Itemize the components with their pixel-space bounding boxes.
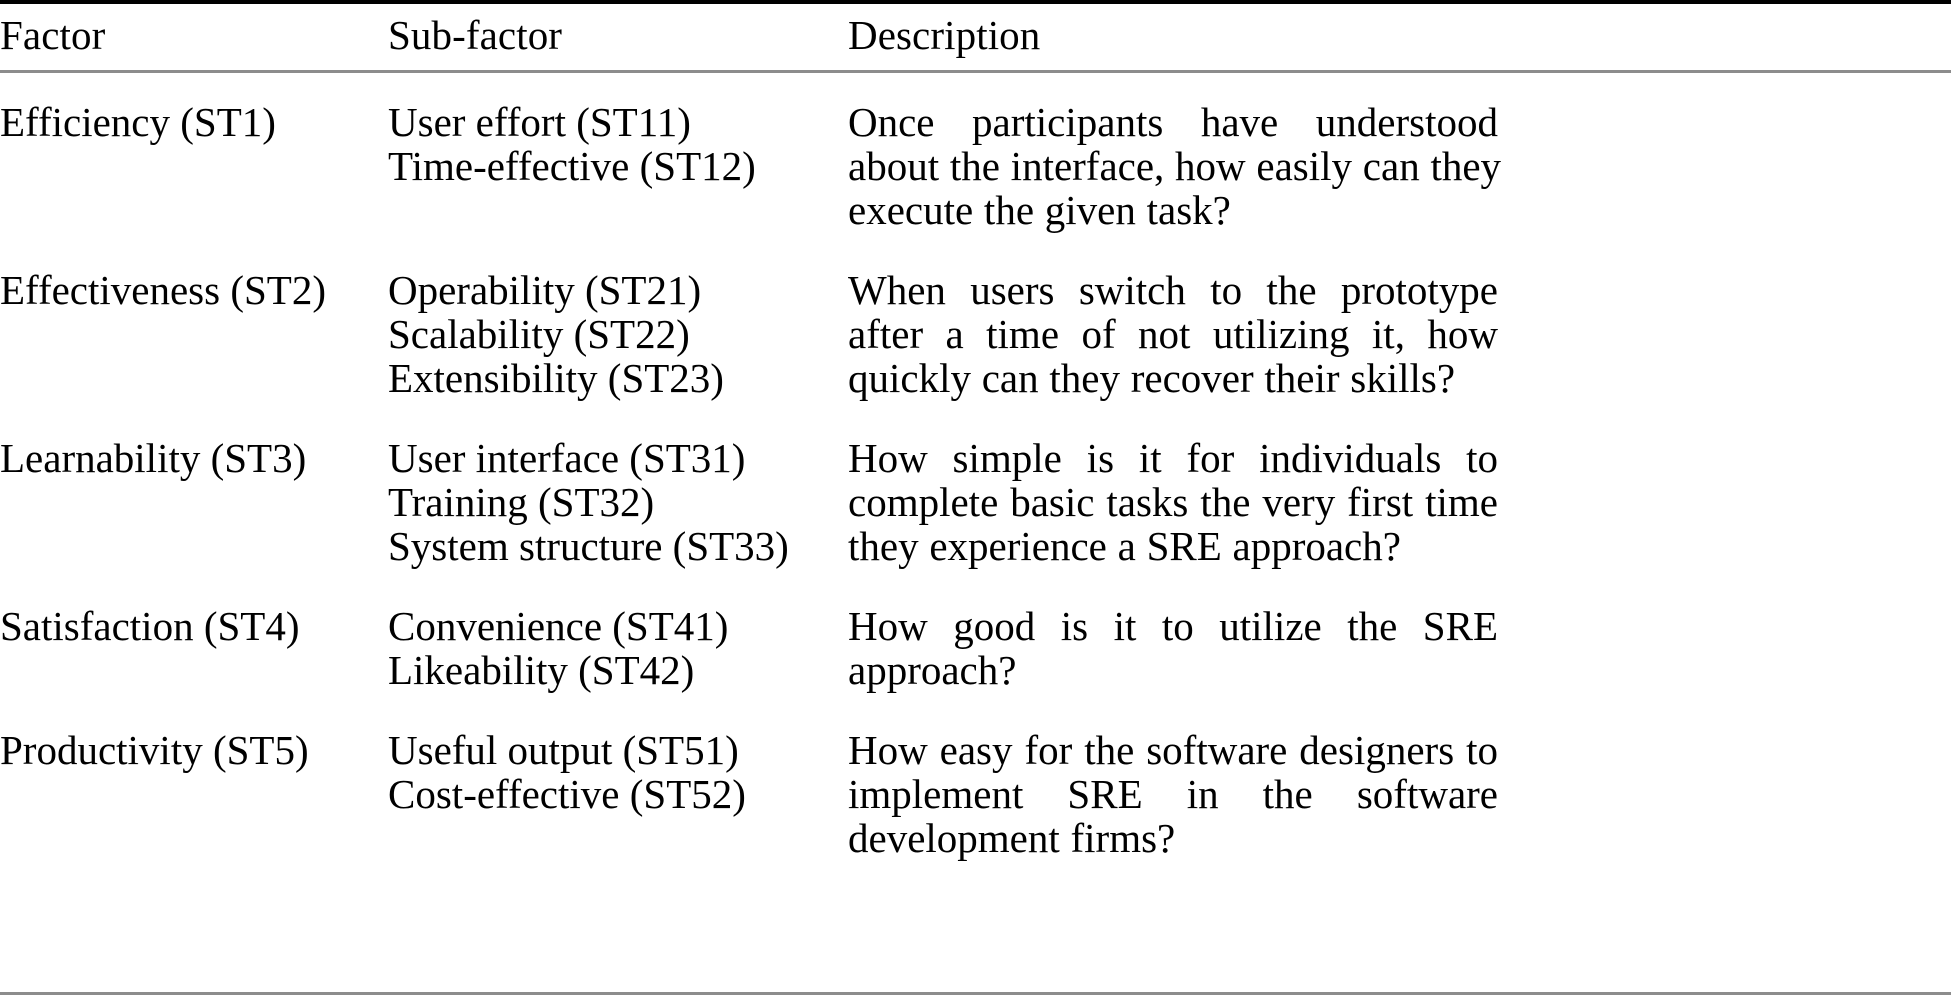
factor-cell: Productivity (ST5) — [0, 728, 388, 772]
sub-factor-item: Training (ST32) — [388, 480, 848, 524]
sub-factor-item: Likeability (ST42) — [388, 648, 848, 692]
sub-factor-list: User effort (ST11) Time-effective (ST12) — [388, 100, 848, 188]
factor-label: Productivity (ST5) — [0, 728, 388, 772]
description-line: Once participants have understood — [848, 100, 1498, 144]
factor-label: Efficiency (ST1) — [0, 100, 388, 144]
table-row: Efficiency (ST1) User effort (ST11) Time… — [0, 84, 1951, 252]
sub-factor-item: Time-effective (ST12) — [388, 144, 848, 188]
description-line: How good is it to utilize the SRE — [848, 604, 1498, 648]
sub-factor-item: Convenience (ST41) — [388, 604, 848, 648]
table-grid: Factor Sub-factor Description Efficiency… — [0, 0, 1951, 880]
description-line: they experience a SRE approach? — [848, 524, 1498, 568]
factor-cell: Effectiveness (ST2) — [0, 268, 388, 312]
description-line: approach? — [848, 648, 1498, 692]
sub-factor-item: User effort (ST11) — [388, 100, 848, 144]
sub-factor-cell: Convenience (ST41) Likeability (ST42) — [388, 604, 848, 692]
description-line: development firms? — [848, 816, 1498, 860]
sub-factor-item: System structure (ST33) — [388, 524, 848, 568]
description-cell: How good is it to utilize the SRE approa… — [848, 604, 1498, 692]
description-line: How easy for the software designers to — [848, 728, 1498, 772]
factor-subfactor-description-table: Factor Sub-factor Description Efficiency… — [0, 0, 1951, 1000]
table-row: Effectiveness (ST2) Operability (ST21) S… — [0, 252, 1951, 420]
description-line: after a time of not utilizing it, how — [848, 312, 1498, 356]
factor-cell: Satisfaction (ST4) — [0, 604, 388, 648]
description-line: execute the given task? — [848, 188, 1498, 232]
sub-factor-item: User interface (ST31) — [388, 436, 848, 480]
sub-factor-item: Useful output (ST51) — [388, 728, 848, 772]
description-line: implement SRE in the software — [848, 772, 1498, 816]
table-row: Productivity (ST5) Useful output (ST51) … — [0, 712, 1951, 880]
description-line: How simple is it for individuals to — [848, 436, 1498, 480]
sub-factor-item: Extensibility (ST23) — [388, 356, 848, 400]
sub-factor-cell: Useful output (ST51) Cost-effective (ST5… — [388, 728, 848, 816]
sub-factor-list: Convenience (ST41) Likeability (ST42) — [388, 604, 848, 692]
sub-factor-cell: Operability (ST21) Scalability (ST22) Ex… — [388, 268, 848, 400]
factor-cell: Efficiency (ST1) — [0, 100, 388, 144]
description-cell: When users switch to the prototype after… — [848, 268, 1498, 400]
sub-factor-item: Operability (ST21) — [388, 268, 848, 312]
sub-factor-cell: User interface (ST31) Training (ST32) Sy… — [388, 436, 848, 568]
description-line: quickly can they recover their skills? — [848, 356, 1498, 400]
sub-factor-list: Useful output (ST51) Cost-effective (ST5… — [388, 728, 848, 816]
column-header-sub-factor: Sub-factor — [388, 0, 848, 70]
sub-factor-cell: User effort (ST11) Time-effective (ST12) — [388, 100, 848, 188]
factor-label: Learnability (ST3) — [0, 436, 388, 480]
table-body: Efficiency (ST1) User effort (ST11) Time… — [0, 70, 1951, 880]
description-line: about the interface, how easily can they — [848, 144, 1498, 188]
factor-label: Satisfaction (ST4) — [0, 604, 388, 648]
table-bottom-rule — [0, 992, 1951, 995]
column-header-description: Description — [848, 0, 1498, 70]
sub-factor-item: Cost-effective (ST52) — [388, 772, 848, 816]
sub-factor-list: User interface (ST31) Training (ST32) Sy… — [388, 436, 848, 568]
description-cell: Once participants have understood about … — [848, 100, 1498, 232]
description-cell: How easy for the software designers to i… — [848, 728, 1498, 860]
table-row: Learnability (ST3) User interface (ST31)… — [0, 420, 1951, 588]
sub-factor-list: Operability (ST21) Scalability (ST22) Ex… — [388, 268, 848, 400]
column-header-factor: Factor — [0, 0, 388, 70]
table-row: Satisfaction (ST4) Convenience (ST41) Li… — [0, 588, 1951, 712]
description-cell: How simple is it for individuals to comp… — [848, 436, 1498, 568]
description-line: When users switch to the prototype — [848, 268, 1498, 312]
sub-factor-item: Scalability (ST22) — [388, 312, 848, 356]
table-header-row: Factor Sub-factor Description — [0, 0, 1951, 70]
description-line: complete basic tasks the very first time — [848, 480, 1498, 524]
factor-cell: Learnability (ST3) — [0, 436, 388, 480]
factor-label: Effectiveness (ST2) — [0, 268, 388, 312]
